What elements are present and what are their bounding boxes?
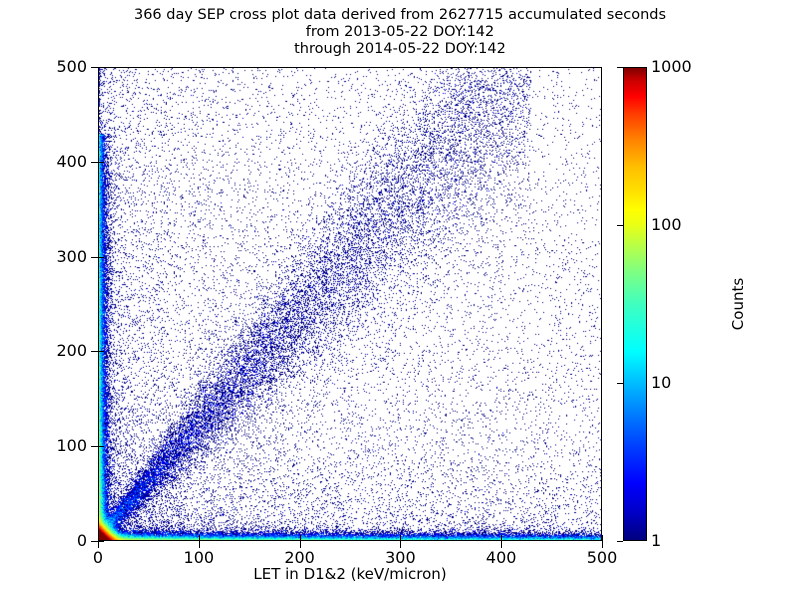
x-tick-100: [199, 541, 200, 548]
x-ticklabel-100: 100: [184, 550, 215, 566]
x-tick-200: [300, 541, 301, 548]
chart-title-line-3: through 2014-05-22 DOY:142: [0, 41, 800, 58]
colorbar: [623, 67, 647, 541]
y-ticklabel-300: 300: [56, 249, 87, 265]
colorbar-tick-10: [617, 383, 623, 384]
y-tick-inner-300: [98, 257, 104, 258]
chart-title: 366 day SEP cross plot data derived from…: [0, 7, 800, 58]
x-ticklabel-0: 0: [93, 550, 103, 566]
y-tick-inner-100: [98, 446, 104, 447]
colorbar-ticklabel-100: 100: [651, 217, 682, 233]
y-ticklabel-200: 200: [56, 343, 87, 359]
y-tick-500: [91, 67, 98, 68]
y-ticklabel-100: 100: [56, 438, 87, 454]
y-ticklabel-400: 400: [56, 154, 87, 170]
y-ticklabel-500: 500: [56, 59, 87, 75]
x-tick-inner-300: [400, 535, 401, 541]
y-tick-400: [91, 162, 98, 163]
colorbar-ticklabel-1000: 1000: [651, 59, 692, 75]
scatter-density-plot: [99, 68, 601, 540]
x-ticklabel-200: 200: [284, 550, 315, 566]
x-ticklabel-400: 400: [486, 550, 517, 566]
y-ticklabel-0: 0: [77, 533, 87, 549]
colorbar-tick-1: [617, 541, 623, 542]
x-tick-500: [602, 541, 603, 548]
chart-title-line-1: 366 day SEP cross plot data derived from…: [0, 7, 800, 24]
x-tick-inner-100: [199, 535, 200, 541]
y-tick-0: [91, 541, 98, 542]
colorbar-ticklabel-10: 10: [651, 375, 671, 391]
plot-axes: [98, 67, 602, 541]
x-tick-400: [501, 541, 502, 548]
x-tick-inner-0: [98, 535, 99, 541]
colorbar-ticklabel-1: 1: [651, 533, 661, 549]
y-tick-inner-500: [98, 67, 104, 68]
colorbar-tick-1000: [617, 67, 623, 68]
x-ticklabel-500: 500: [587, 550, 618, 566]
x-ticklabel-300: 300: [385, 550, 416, 566]
x-axis-label: LET in D1&2 (keV/micron): [98, 565, 602, 583]
y-tick-inner-400: [98, 162, 104, 163]
x-tick-300: [400, 541, 401, 548]
x-tick-inner-200: [300, 535, 301, 541]
y-tick-100: [91, 446, 98, 447]
y-tick-200: [91, 351, 98, 352]
x-tick-0: [98, 541, 99, 548]
x-tick-inner-400: [501, 535, 502, 541]
colorbar-tick-100: [617, 225, 623, 226]
colorbar-label: Counts: [728, 67, 748, 541]
y-tick-inner-200: [98, 351, 104, 352]
x-tick-inner-500: [602, 535, 603, 541]
chart-title-line-2: from 2013-05-22 DOY:142: [0, 24, 800, 41]
figure-canvas: 366 day SEP cross plot data derived from…: [0, 0, 800, 600]
y-tick-300: [91, 257, 98, 258]
